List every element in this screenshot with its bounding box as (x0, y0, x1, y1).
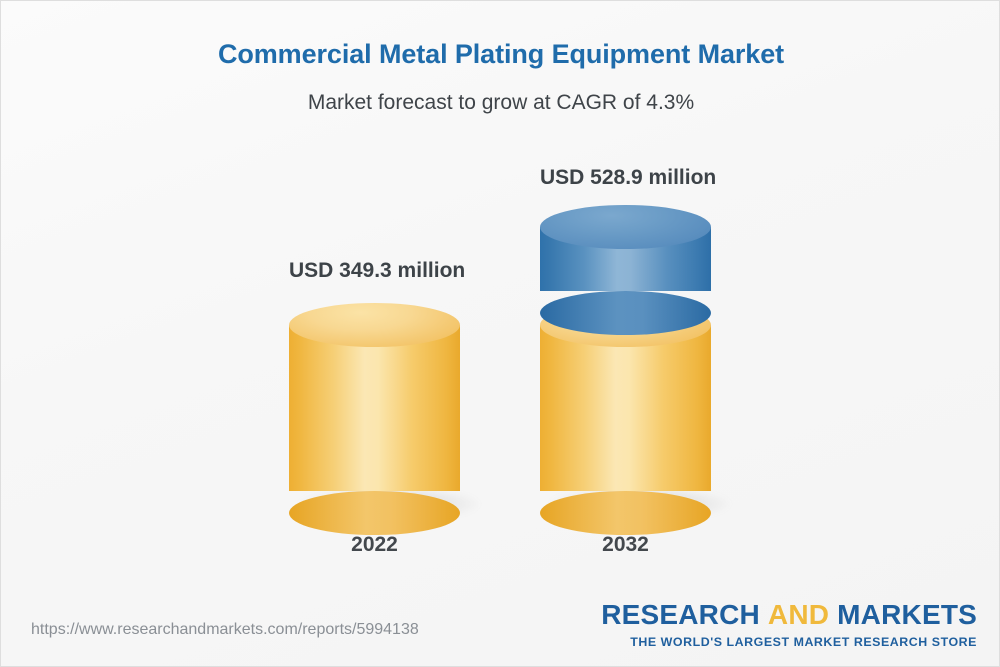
report-url[interactable]: https://www.researchandmarkets.com/repor… (31, 621, 419, 639)
logo-tagline: THE WORLD'S LARGEST MARKET RESEARCH STOR… (601, 636, 977, 648)
logo-word-markets: MARKETS (837, 599, 977, 630)
cylinder-bottom-cap (540, 491, 711, 535)
logo-word-and: AND (768, 599, 829, 630)
bar-category-label-2022: 2022 (289, 533, 460, 557)
cylinder-top-cap (289, 303, 460, 347)
bar-segment-2022-base (289, 303, 460, 513)
bar-group-2022: USD 349.3 million 2022 (289, 1, 460, 601)
cylinder-body (289, 325, 460, 491)
bar-segment-2032-growth (540, 205, 711, 313)
logo-wordmark: RESEARCH AND MARKETS (601, 601, 977, 629)
logo-word-research: RESEARCH (601, 599, 760, 630)
cylinder-bottom-cap (289, 491, 460, 535)
cylinder-bottom-cap (540, 291, 711, 335)
bar-value-label-2022: USD 349.3 million (289, 259, 460, 283)
research-and-markets-logo: RESEARCH AND MARKETS THE WORLD'S LARGEST… (601, 601, 977, 648)
bar-group-2032: USD 528.9 million 2032 (540, 1, 711, 601)
bar-value-label-2032: USD 528.9 million (540, 166, 711, 190)
cylinder-body (540, 325, 711, 491)
market-infographic: Commercial Metal Plating Equipment Marke… (0, 0, 1000, 667)
bar-category-label-2032: 2032 (540, 533, 711, 557)
bar-chart: USD 349.3 million 2022 USD 528.9 million (1, 1, 1000, 601)
cylinder-top-cap (540, 205, 711, 249)
